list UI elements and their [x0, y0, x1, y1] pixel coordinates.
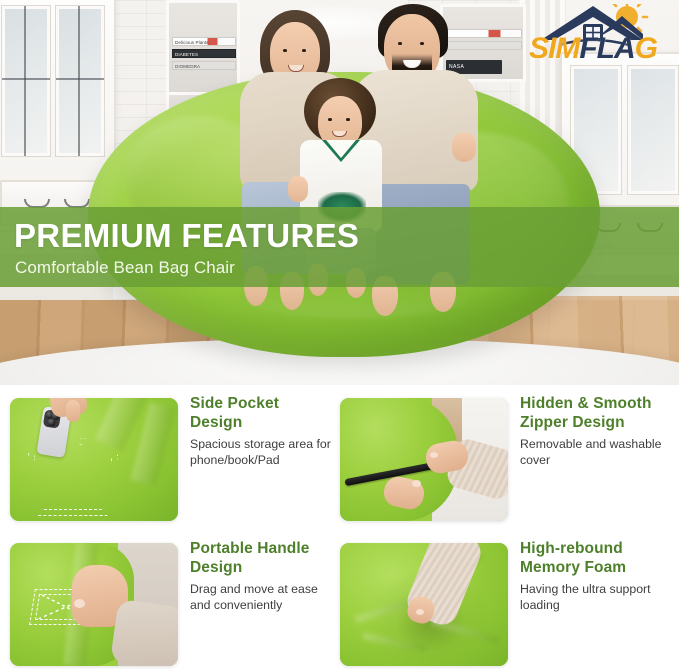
eye	[398, 42, 402, 45]
cabinet-glass-pane	[628, 66, 678, 194]
feature-card-hidden-zipper: Hidden & Smooth Zipper Design Removable …	[340, 395, 670, 525]
feature-image-side-pocket	[10, 398, 178, 521]
eye	[283, 49, 287, 52]
book-title: DIABETES	[172, 49, 236, 58]
vest-neckline-inner	[326, 140, 356, 158]
feature-card-portable-handle: Portable Handle Design Drag and move at …	[10, 540, 340, 669]
hand	[452, 132, 476, 162]
feature-title-line2: Design	[190, 559, 242, 576]
finger	[66, 400, 80, 422]
feature-title-line1: Portable Handle	[190, 540, 310, 557]
feature-text-hidden-zipper: Hidden & Smooth Zipper Design Removable …	[520, 395, 670, 468]
feature-title-line2: Design	[190, 414, 242, 431]
features-grid: Side Pocket Design Spacious storage area…	[0, 390, 679, 669]
feature-image-hidden-zipper	[340, 398, 508, 521]
brand-name-part3: G	[635, 32, 657, 65]
feature-description: Spacious storage area for phone/book/Pad	[190, 437, 340, 468]
banner-subtitle: Comfortable Bean Bag Chair	[15, 257, 235, 279]
feature-text-memory-foam: High-rebound Memory Foam Having the ultr…	[520, 540, 670, 613]
premium-features-banner: PREMIUM FEATURES Comfortable Bean Bag Ch…	[0, 207, 679, 287]
eye	[302, 49, 306, 52]
feature-title: High-rebound Memory Foam	[520, 540, 670, 577]
brand-name-part2: FLA	[579, 32, 634, 65]
mullion	[2, 78, 50, 80]
feature-title-line2: Memory Foam	[520, 559, 626, 576]
shelf-niche-upper: Delicious Plants DIABETES DIOMEDRA	[166, 0, 240, 96]
feature-title: Portable Handle Design	[190, 540, 340, 577]
book-title: DIOMEDRA	[172, 61, 236, 70]
fingernail	[412, 480, 421, 487]
fingernail	[74, 599, 85, 608]
camera-lens-icon	[47, 418, 56, 427]
sleeve	[110, 599, 178, 666]
mouth	[332, 131, 347, 137]
fingernail	[416, 609, 424, 615]
feature-image-memory-foam	[340, 543, 508, 666]
feature-text-side-pocket: Side Pocket Design Spacious storage area…	[190, 395, 340, 468]
hero-section: Delicious Plants DIABETES DIOMEDRA SEI F…	[0, 0, 679, 385]
brand-logo: SIMFLAG	[517, 4, 669, 66]
brand-name-part1: SIM	[529, 32, 579, 65]
feature-title: Hidden & Smooth Zipper Design	[520, 395, 670, 432]
feature-title-line1: Side Pocket	[190, 395, 279, 412]
feature-title: Side Pocket Design	[190, 395, 340, 432]
hand	[288, 176, 308, 202]
eye	[420, 42, 424, 45]
cabinet-glass-pane	[2, 6, 50, 156]
feature-title-line1: High-rebound	[520, 540, 623, 557]
eye	[346, 118, 350, 121]
feature-text-portable-handle: Portable Handle Design Drag and move at …	[190, 540, 340, 613]
mullion	[56, 78, 104, 80]
fingernail	[430, 452, 438, 458]
mouth	[288, 65, 304, 72]
feature-description: Drag and move at ease and conveniently	[190, 582, 340, 613]
feature-card-memory-foam: High-rebound Memory Foam Having the ultr…	[340, 540, 670, 669]
mullion	[78, 6, 80, 156]
mullion	[24, 6, 26, 156]
banner-title: PREMIUM FEATURES	[14, 217, 359, 255]
feature-image-portable-handle	[10, 543, 178, 666]
feature-card-side-pocket: Side Pocket Design Spacious storage area…	[10, 395, 340, 525]
cabinet-glass-pane	[56, 6, 104, 156]
brand-wordmark: SIMFLAG	[517, 34, 669, 64]
feature-title-line2: Zipper Design	[520, 414, 625, 431]
feature-title-line1: Hidden & Smooth	[520, 395, 652, 412]
eye	[328, 118, 332, 121]
feature-description: Removable and washable cover	[520, 437, 670, 468]
book-title: Delicious Plants	[172, 37, 236, 46]
feature-description: Having the ultra support loading	[520, 582, 670, 613]
